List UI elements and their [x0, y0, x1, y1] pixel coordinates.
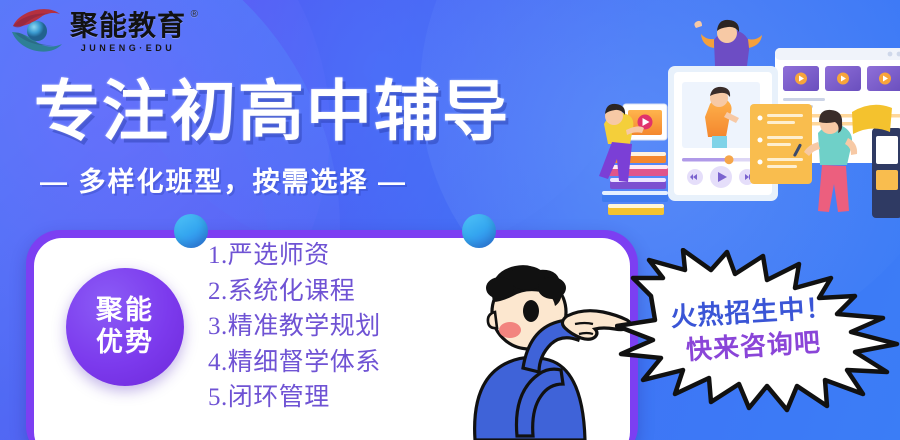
list-item: 1.严选师资 [208, 238, 381, 274]
list-item-label: 精准教学规划 [228, 312, 381, 340]
list-item-label: 闭环管理 [228, 383, 330, 411]
brand-logo-text: 聚能教育® JUNENG·EDU [70, 10, 186, 53]
hero-text-block: 专注初高中辅导 — 多样化班型，按需选择 — [34, 78, 510, 199]
list-item-number: 3. [208, 313, 228, 340]
list-item-number: 2. [208, 278, 228, 305]
decor-circle-left-icon [174, 214, 208, 248]
list-item-label: 严选师资 [228, 241, 330, 269]
eye-emblem-icon [10, 6, 64, 56]
advantages-list: 1.严选师资 2.系统化课程 3.精准教学规划 4.精细督学体系 5.闭环管理 [208, 238, 381, 416]
badge-line-1: 聚能 [96, 295, 154, 327]
checklist-note-icon [750, 104, 812, 184]
list-item-number: 5. [208, 384, 228, 411]
brand-name-cn: 聚能教育® [70, 12, 186, 40]
list-item: 5.闭环管理 [208, 380, 381, 416]
hero-subtitle: — 多样化班型，按需选择 — [40, 160, 510, 199]
list-item-number: 4. [208, 349, 228, 376]
online-learning-illustration [590, 0, 900, 240]
decor-circle-right-icon [462, 214, 496, 248]
list-item-number: 1. [208, 242, 228, 269]
promo-banner: 聚能教育® JUNENG·EDU [0, 0, 900, 440]
brand-name-en: JUNENG·EDU [70, 44, 186, 53]
page-title: 专注初高中辅导 [34, 78, 510, 144]
advantage-badge: 聚能 优势 [66, 268, 184, 386]
list-item-label: 系统化课程 [228, 277, 356, 305]
list-item: 2.系统化课程 [208, 274, 381, 310]
person-waving-icon [694, 20, 762, 66]
registered-mark: ® [191, 10, 199, 20]
badge-line-2: 优势 [96, 327, 154, 359]
list-item: 3.精准教学规划 [208, 309, 381, 345]
list-item-label: 精细督学体系 [228, 348, 381, 376]
brand-logo[interactable]: 聚能教育® JUNENG·EDU [10, 6, 186, 56]
enrollment-callout-text: 火热招生中！ 快来咨询吧 [643, 290, 862, 371]
list-item: 4.精细督学体系 [208, 345, 381, 381]
